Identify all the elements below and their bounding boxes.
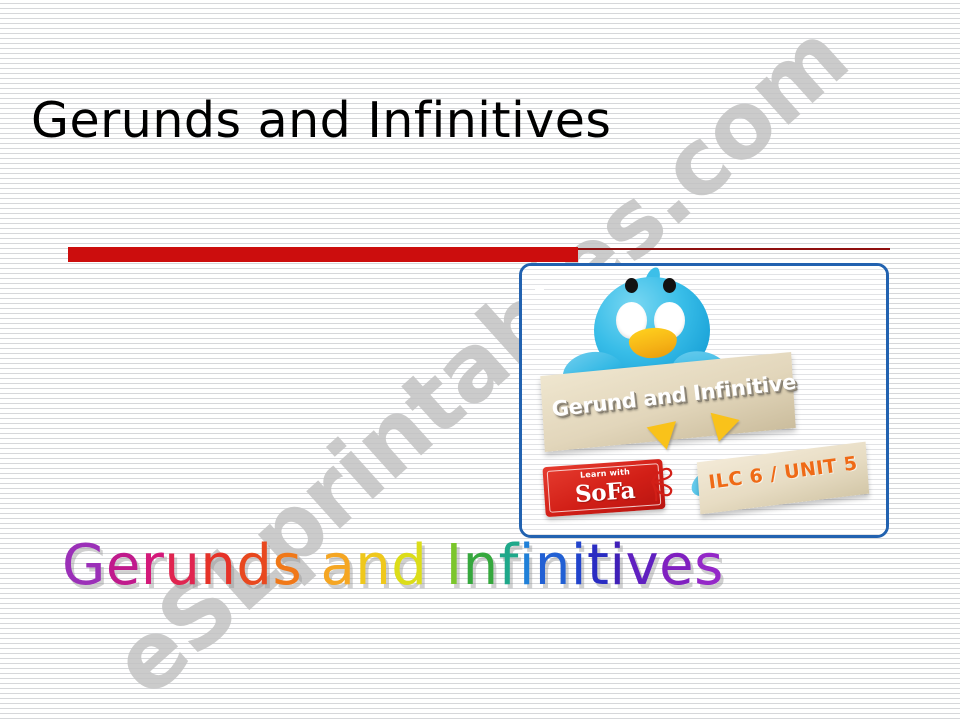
divider	[68, 244, 890, 260]
subtitle-letter-9: n	[355, 533, 391, 598]
subtitle-letter-15: i	[519, 533, 535, 598]
subtitle-letter-5: d	[236, 533, 272, 598]
subtitle-letter-11	[427, 533, 445, 598]
subtitle-letter-0: G	[62, 533, 106, 598]
subtitle-letter-3: u	[164, 533, 200, 598]
subtitle-letter-10: d	[391, 533, 427, 598]
subtitle-letter-13: n	[463, 533, 499, 598]
subtitle-letter-20: v	[626, 533, 660, 598]
divider-thick-bar	[68, 247, 578, 262]
tag-hole-icon	[535, 285, 544, 294]
subtitle-letter-21: e	[659, 533, 694, 598]
slide-canvas: eSLprintables.com Gerunds and Infinitive…	[0, 0, 960, 720]
subtitle-letter-18: t	[587, 533, 609, 598]
subtitle-letter-4: n	[200, 533, 236, 598]
ribbon-bow-icon	[649, 462, 675, 502]
subtitle-letter-22: s	[694, 533, 724, 598]
subtitle-letter-7	[302, 533, 320, 598]
bird-pupil-right-icon	[663, 278, 676, 293]
subtitle-letter-6: s	[272, 533, 302, 598]
subtitle-letter-1: e	[106, 533, 141, 598]
subtitle-letter-16: n	[535, 533, 571, 598]
illustration-canvas: Gerund and Infinitive Learn with SoFa IL…	[522, 266, 886, 535]
subtitle-letter-2: r	[141, 533, 165, 598]
subtitle-letter-19: i	[609, 533, 625, 598]
subtitle-rainbow: Gerunds and Infinitives	[62, 533, 724, 598]
page-title: Gerunds and Infinitives	[31, 92, 611, 149]
subtitle-letter-12: I	[446, 533, 463, 598]
arrow-down-left-icon	[647, 421, 682, 453]
subtitle-letter-17: i	[571, 533, 587, 598]
subtitle-letter-8: a	[320, 533, 355, 598]
bird-pupil-left-icon	[625, 278, 638, 293]
subtitle-letter-14: f	[499, 533, 519, 598]
illustration-frame: Gerund and Infinitive Learn with SoFa IL…	[519, 263, 889, 538]
